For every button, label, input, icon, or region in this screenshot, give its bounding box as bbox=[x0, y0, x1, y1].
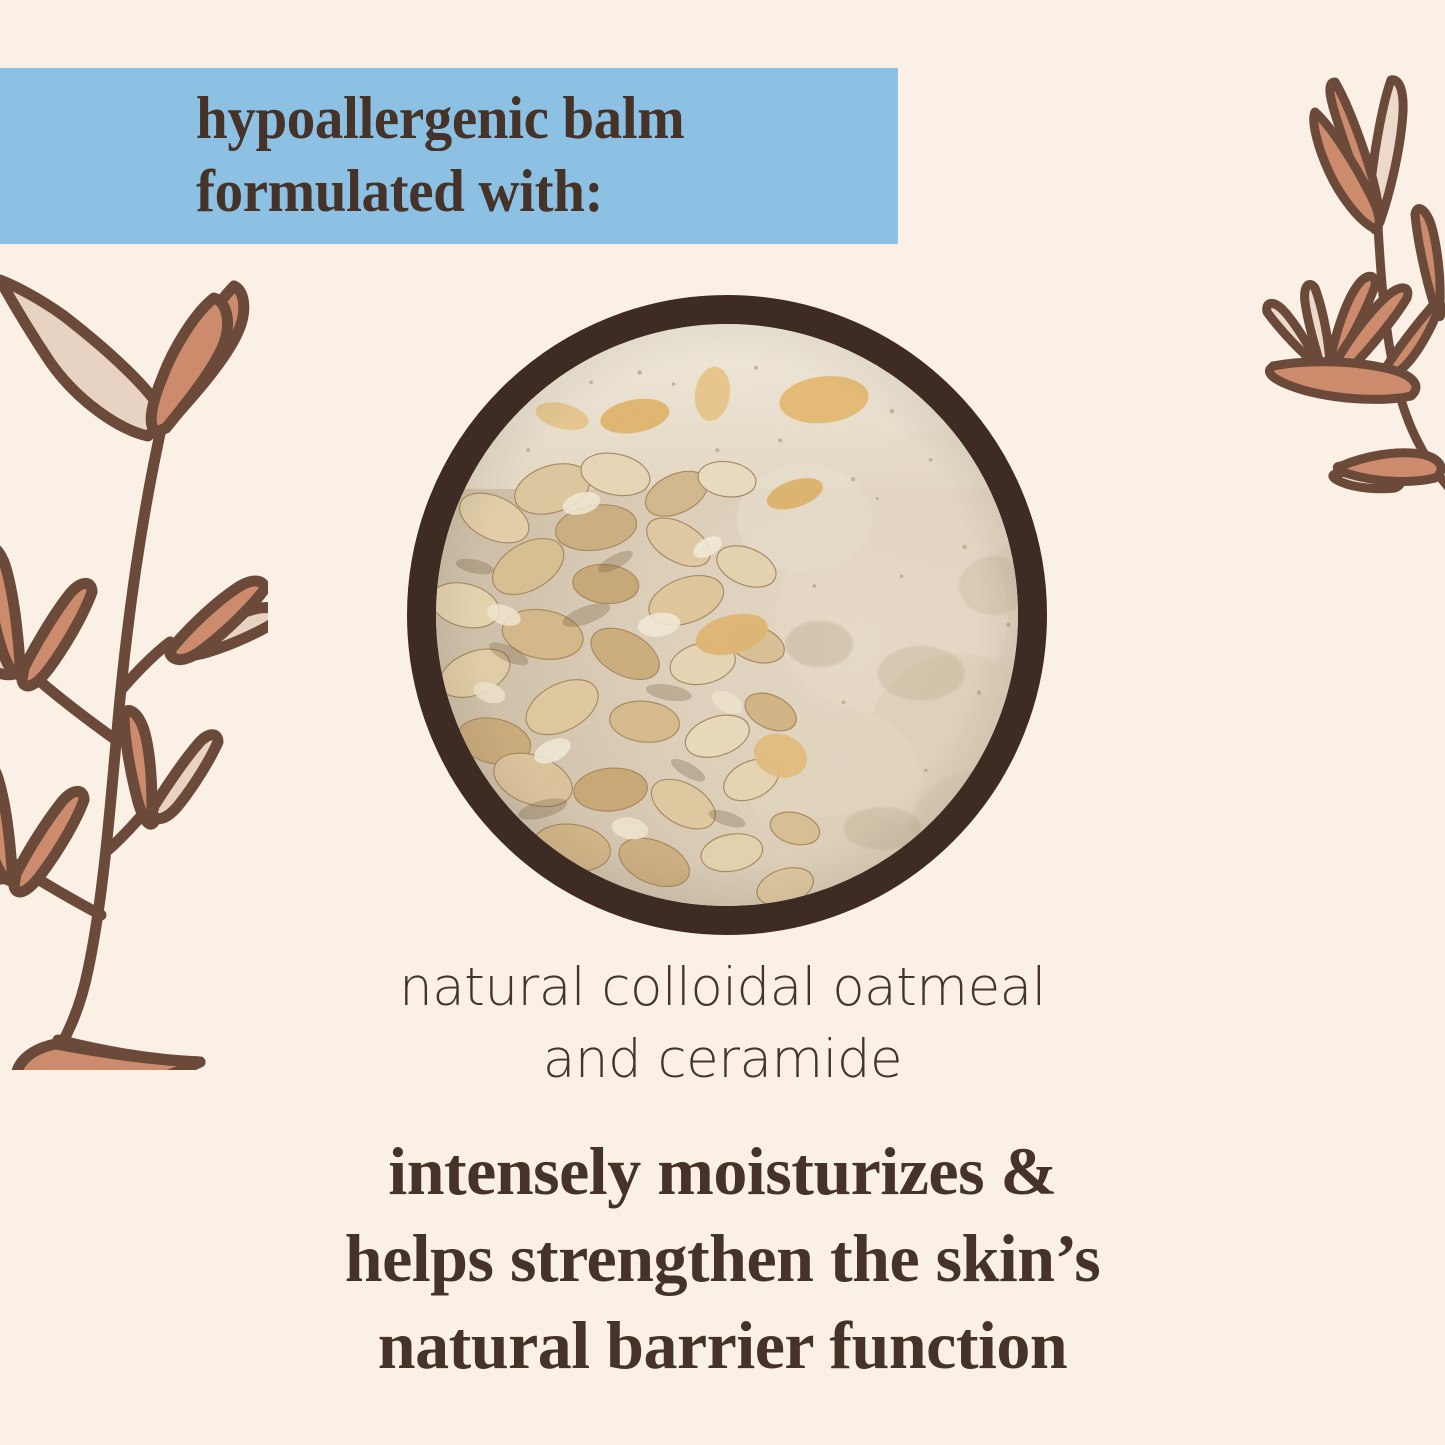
benefit-line-3: natural barrier function bbox=[0, 1302, 1445, 1389]
headline-banner: hypoallergenic balm formulated with: bbox=[0, 68, 898, 244]
colloidal-oatmeal-photo bbox=[407, 295, 1047, 935]
headline-line-1: hypoallergenic balm bbox=[196, 82, 863, 155]
benefit-line-2: helps strengthen the skin’s bbox=[0, 1215, 1445, 1302]
oat-stalk-illustration-right bbox=[1245, 30, 1445, 550]
benefit-line-1: intensely moisturizes & bbox=[0, 1128, 1445, 1215]
oat-stalk-illustration-left bbox=[0, 250, 268, 1070]
ingredient-caption: natural colloidal oatmeal and ceramide bbox=[0, 952, 1445, 1096]
ingredient-caption-line-2: and ceramide bbox=[0, 1024, 1445, 1096]
oatmeal-texture-image bbox=[436, 324, 1018, 906]
benefit-statement: intensely moisturizes & helps strengthen… bbox=[0, 1128, 1445, 1389]
photo-ring-border bbox=[407, 295, 1047, 935]
marketing-graphic: hypoallergenic balm formulated with: bbox=[0, 0, 1445, 1445]
ingredient-caption-line-1: natural colloidal oatmeal bbox=[0, 952, 1445, 1024]
headline-line-2: formulated with: bbox=[196, 155, 863, 228]
